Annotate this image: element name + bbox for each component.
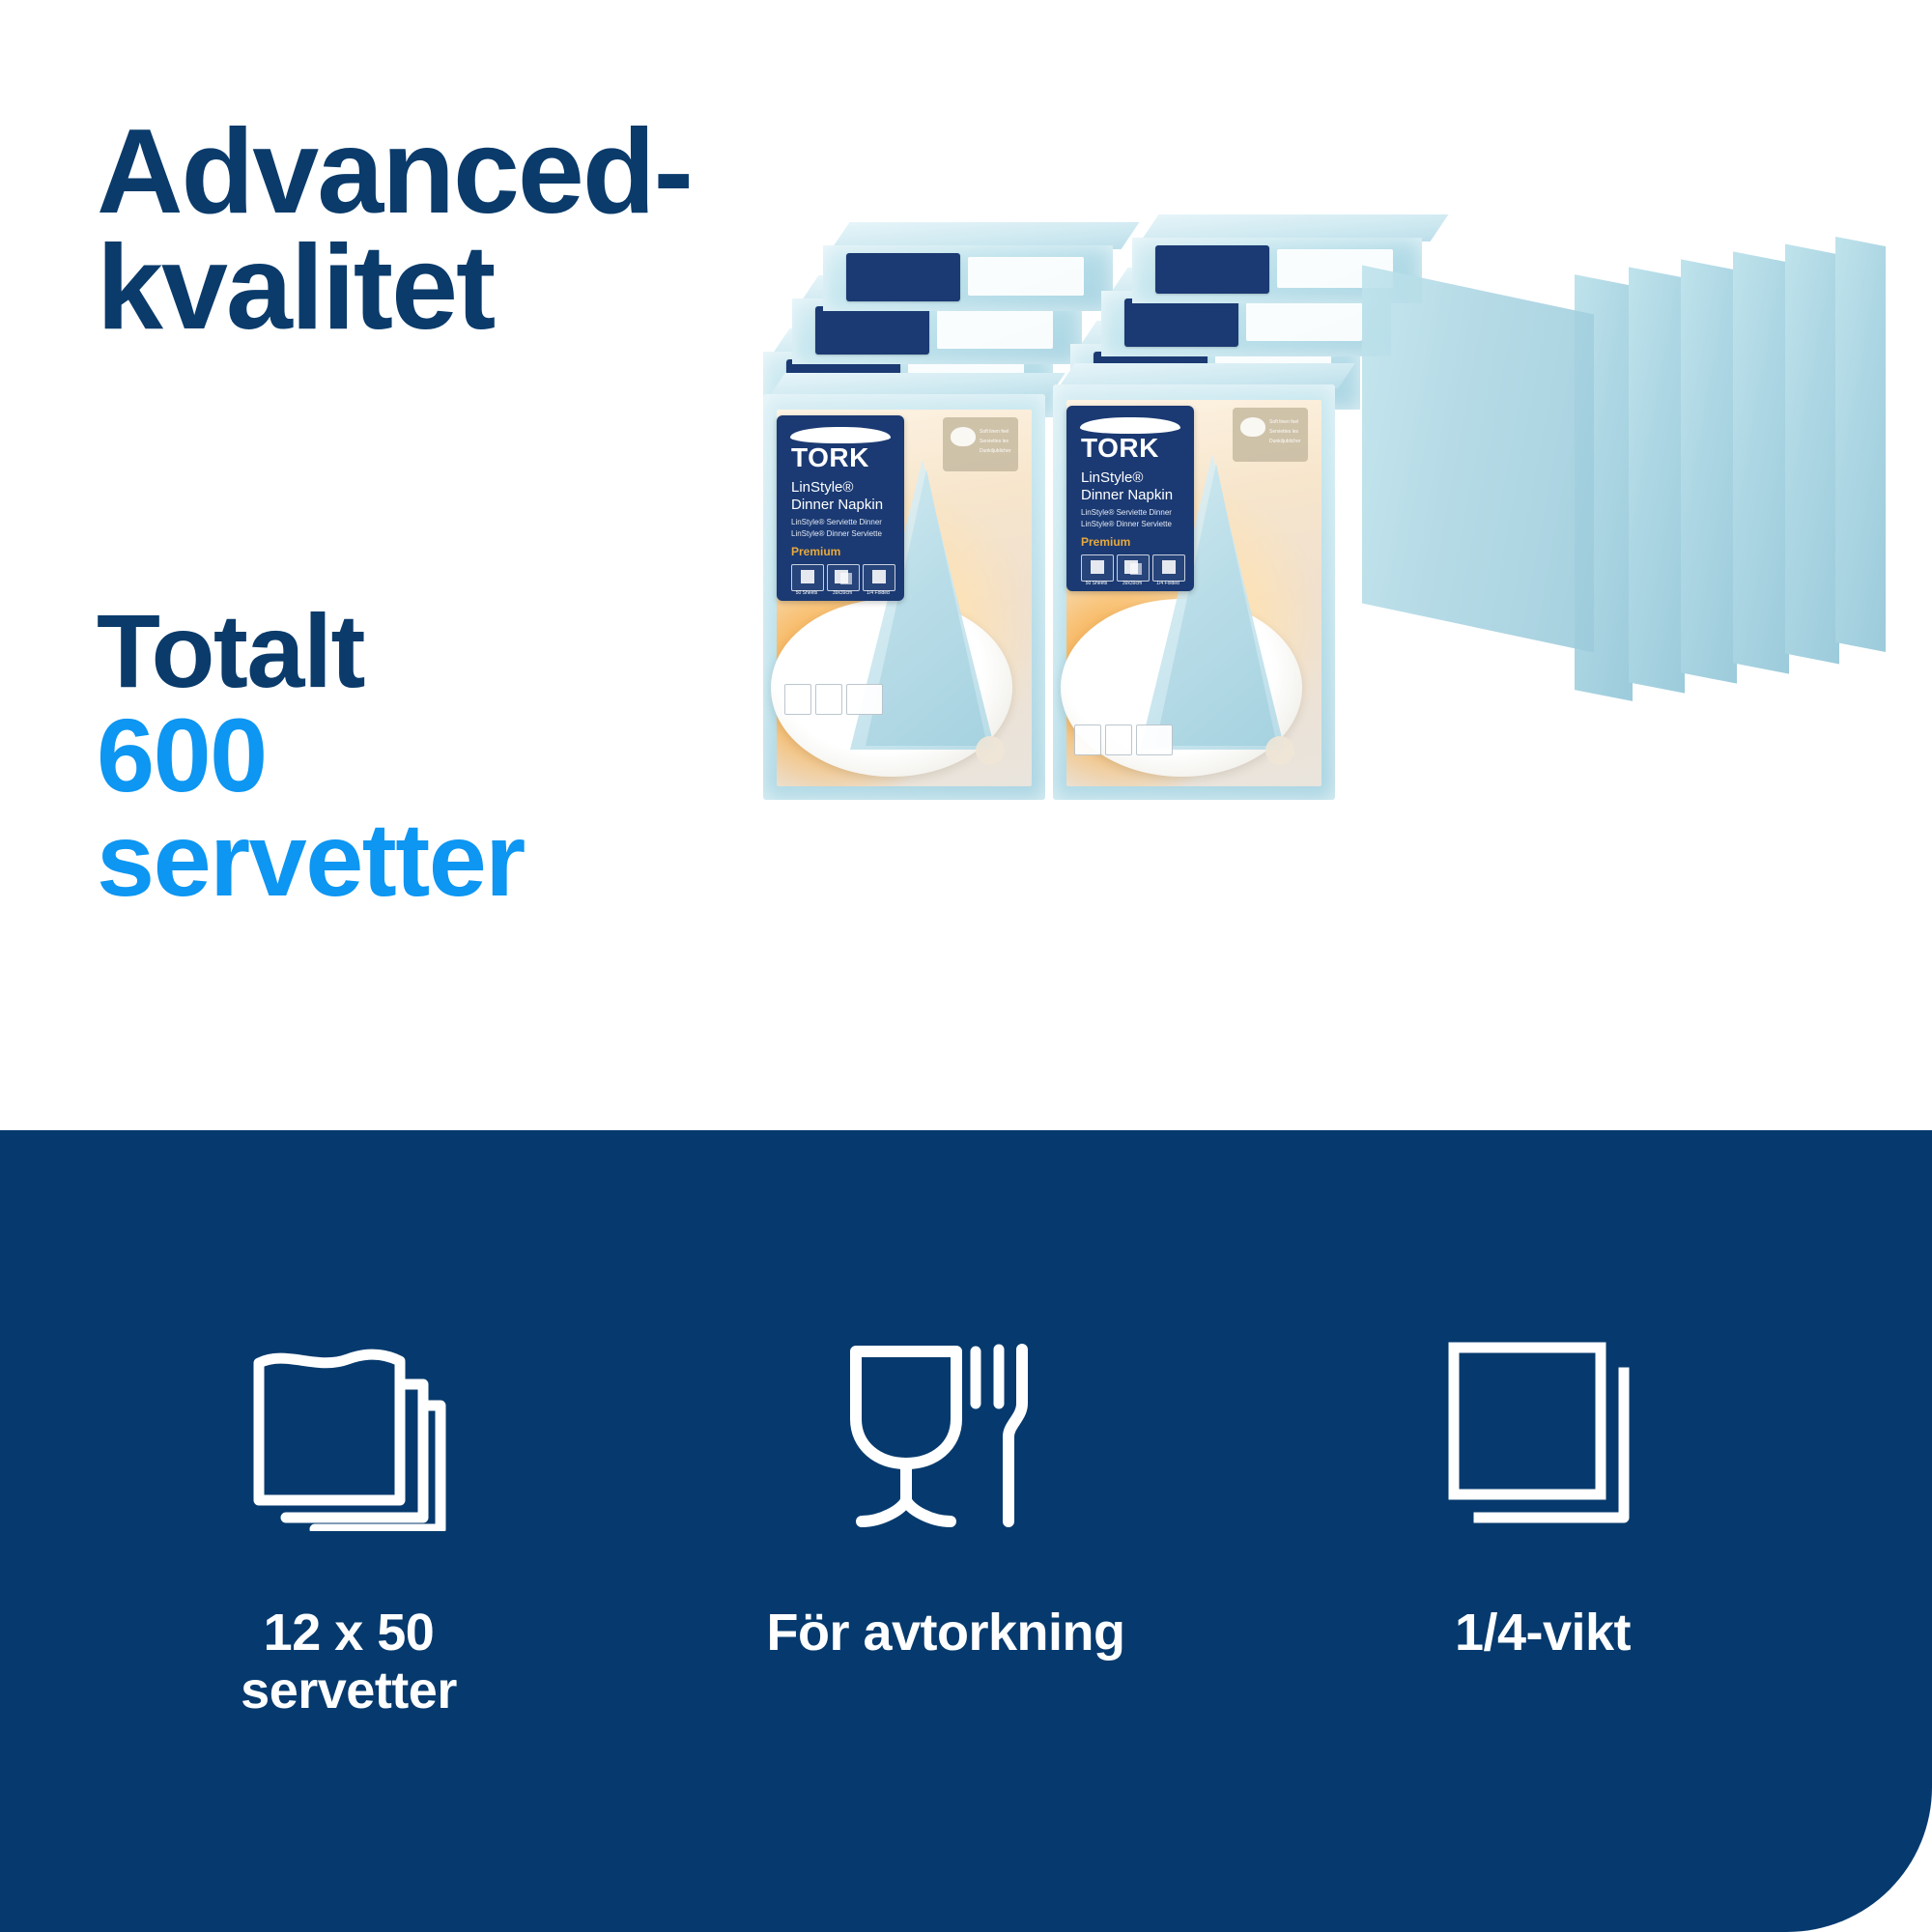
spec-caption-fold: 1/4 Folded xyxy=(1152,581,1183,586)
infographic-canvas: Advanced- kvalitet Totalt 600 servetter xyxy=(0,0,1932,1932)
spec-icon-fold xyxy=(863,564,895,591)
spec-caption-size: 39x39cm xyxy=(1117,581,1148,586)
product-bullet-2: LinStyle® Dinner Serviette xyxy=(791,529,882,538)
spec-icon-sheets xyxy=(791,564,824,591)
pack-side-depth xyxy=(1681,259,1737,683)
rear-pack-row xyxy=(823,222,1132,309)
feature-label-food-safe: För avtorkning xyxy=(766,1604,1124,1662)
spec-caption-size: 39x39cm xyxy=(827,590,858,596)
soft-badge-line-1: Soft linen feel xyxy=(1269,419,1298,425)
pack-side-depth xyxy=(1629,267,1685,693)
brand-name: TORK xyxy=(1081,433,1159,464)
feature-fold-type: 1/4-vikt xyxy=(1244,1130,1841,1662)
spec-icon-fold xyxy=(1152,554,1185,582)
napkin-stack-icon xyxy=(247,1323,450,1546)
spec-caption-fold: 1/4 Folded xyxy=(863,590,894,596)
top-white-section: Advanced- kvalitet Totalt 600 servetter xyxy=(0,0,1932,1130)
soft-badge-line-3: Dunkiljublicher xyxy=(980,448,1011,454)
product-tier: Premium xyxy=(791,545,840,558)
soft-badge-line-1: Soft linen feel xyxy=(980,429,1009,435)
product-image: TORK LinStyle® Dinner Napkin LinStyle® S… xyxy=(763,222,1884,889)
features-row: 12 x 50 servetter För avtorkning xyxy=(0,1130,1932,1932)
product-line: LinStyle® xyxy=(1081,469,1143,486)
glass-fork-food-safe-icon xyxy=(842,1323,1050,1546)
soft-badge-line-3: Dunkiljublicher xyxy=(1269,439,1301,444)
spec-caption-sheets: 50 Sheets xyxy=(1081,581,1112,586)
product-bullet-2: LinStyle® Dinner Serviette xyxy=(1081,520,1172,528)
feature-napkin-count: 12 x 50 servetter xyxy=(50,1130,647,1720)
spec-icon-size xyxy=(1117,554,1150,582)
soft-feel-badge: Soft linen feel Serviettes les Dunkiljub… xyxy=(943,417,1018,471)
spec-icon-size xyxy=(827,564,860,591)
stack-depth-band xyxy=(1362,265,1594,652)
pack-side-depth xyxy=(1785,244,1839,665)
front-pack: TORK LinStyle® Dinner Napkin LinStyle® S… xyxy=(763,394,1053,800)
feature-label-fold-type: 1/4-vikt xyxy=(1455,1604,1631,1662)
pack-side-depth xyxy=(1733,251,1789,673)
product-bullet-1: LinStyle® Serviette Dinner xyxy=(1081,508,1172,517)
front-pack: TORK LinStyle® Dinner Napkin LinStyle® S… xyxy=(1053,384,1343,800)
product-line: LinStyle® xyxy=(791,479,853,496)
product-tier: Premium xyxy=(1081,535,1130,549)
soft-feel-badge: Soft linen feel Serviettes les Dunkiljub… xyxy=(1233,408,1308,462)
certification-marks xyxy=(784,684,883,715)
brand-name: TORK xyxy=(791,442,869,473)
product-name: Dinner Napkin xyxy=(791,497,883,513)
product-name: Dinner Napkin xyxy=(1081,487,1173,503)
soft-badge-line-2: Serviettes les xyxy=(1269,429,1298,435)
features-panel: 12 x 50 servetter För avtorkning xyxy=(0,1130,1932,1932)
spec-caption-sheets: 50 Sheets xyxy=(791,590,822,596)
feature-food-safe: För avtorkning xyxy=(647,1130,1244,1662)
product-label: TORK LinStyle® Dinner Napkin LinStyle® S… xyxy=(777,415,904,601)
feature-label-napkin-count: 12 x 50 servetter xyxy=(241,1604,457,1720)
product-bullet-1: LinStyle® Serviette Dinner xyxy=(791,518,882,526)
spec-icon-sheets xyxy=(1081,554,1114,582)
product-label: TORK LinStyle® Dinner Napkin LinStyle® S… xyxy=(1066,406,1194,591)
soft-badge-line-2: Serviettes les xyxy=(980,439,1009,444)
certification-marks xyxy=(1074,724,1173,755)
pack-side-depth xyxy=(1835,237,1886,652)
quarter-fold-square-icon xyxy=(1444,1323,1642,1546)
